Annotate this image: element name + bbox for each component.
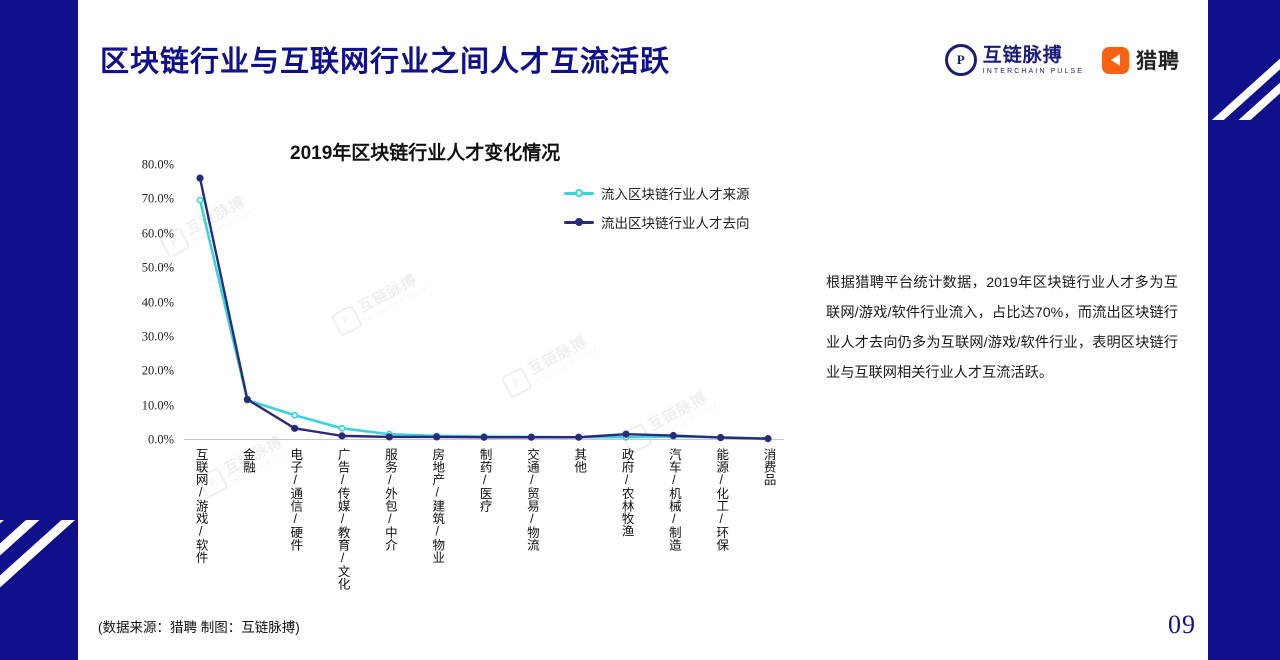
- liepin-play-icon: [1102, 47, 1129, 74]
- x-axis-tick-label: 房地产/建筑/物业: [430, 448, 443, 564]
- top-right-stripes: [1208, 0, 1280, 120]
- x-axis-tick-label: 消费品: [761, 448, 774, 486]
- x-axis-labels: 互联网/游戏/软件金融电子/通信/硬件广告/传媒/教育/文化服务/外包/中介房地…: [184, 448, 784, 598]
- bottom-left-stripes: [0, 520, 78, 660]
- plot-area: 流入区块链行业人才来源流出区块链行业人才去向: [184, 165, 784, 440]
- x-axis-tick-label: 其他: [572, 448, 585, 473]
- series-marker: [623, 431, 629, 437]
- legend-label: 流出区块链行业人才去向: [601, 212, 750, 232]
- source-note: (数据来源：猎聘 制图：互链脉搏): [98, 616, 300, 636]
- y-axis-tick-label: 70.0%: [142, 192, 174, 207]
- series-marker: [576, 434, 582, 440]
- series-marker: [718, 435, 724, 441]
- y-axis-tick-label: 20.0%: [142, 364, 174, 379]
- series-marker: [387, 434, 393, 440]
- liepin-logo: 猎聘: [1102, 45, 1180, 75]
- page-number: 09: [1168, 610, 1196, 640]
- series-marker: [481, 434, 487, 440]
- y-axis-tick-label: 40.0%: [142, 295, 174, 310]
- series-marker: [765, 436, 771, 442]
- slide: P 互链脉搏 INTERCHAIN PULSE P 互链脉搏 INTERCHAI…: [0, 0, 1280, 660]
- x-axis-tick-label: 能源/化工/环保: [714, 448, 727, 551]
- y-axis-tick-label: 0.0%: [148, 433, 174, 448]
- logo-group: P 互链脉搏 INTERCHAIN PULSE 猎聘: [945, 44, 1180, 76]
- x-axis-tick-label: 互联网/游戏/软件: [193, 448, 206, 564]
- x-axis-tick-label: 电子/通信/硬件: [288, 448, 301, 551]
- y-axis-tick-label: 60.0%: [142, 226, 174, 241]
- series-marker: [197, 175, 203, 181]
- x-axis-tick-label: 服务/外包/中介: [383, 448, 396, 551]
- x-axis-tick-label: 汽车/机械/制造: [667, 448, 680, 551]
- legend-item[interactable]: 流入区块链行业人才来源: [564, 183, 750, 203]
- legend-label: 流入区块链行业人才来源: [601, 183, 750, 203]
- ip-circle-icon: P: [945, 44, 977, 76]
- chart: 0.0%10.0%20.0%30.0%40.0%50.0%60.0%70.0%8…: [112, 165, 792, 455]
- interchain-logo-cn: 互链脉搏: [983, 46, 1084, 65]
- y-axis-tick-label: 50.0%: [142, 261, 174, 276]
- interchain-logo-en: INTERCHAIN PULSE: [983, 68, 1084, 75]
- legend-swatch-icon: [564, 215, 594, 229]
- legend-item[interactable]: 流出区块链行业人才去向: [564, 212, 750, 232]
- x-axis-tick-label: 广告/传媒/教育/文化: [335, 448, 348, 590]
- x-axis-tick-label: 交通/贸易/物流: [525, 448, 538, 551]
- interchain-logo: P 互链脉搏 INTERCHAIN PULSE: [945, 44, 1084, 76]
- series-marker: [434, 434, 440, 440]
- legend-swatch-icon: [564, 186, 594, 200]
- series-marker: [197, 197, 202, 202]
- x-axis-tick-label: 制药/医疗: [477, 448, 490, 512]
- chart-title: 2019年区块链行业人才变化情况: [290, 138, 560, 165]
- y-axis-tick-label: 80.0%: [142, 158, 174, 173]
- series-marker: [529, 434, 535, 440]
- y-axis-tick-label: 10.0%: [142, 398, 174, 413]
- series-marker: [339, 433, 345, 439]
- summary-note: 根据猎聘平台统计数据，2019年区块链行业人才多为互联网/游戏/软件行业流入，占…: [826, 268, 1178, 388]
- y-axis-labels: 0.0%10.0%20.0%30.0%40.0%50.0%60.0%70.0%8…: [112, 165, 174, 440]
- series-marker: [339, 426, 344, 431]
- chart-legend: 流入区块链行业人才来源流出区块链行业人才去向: [564, 183, 750, 241]
- y-axis-tick-label: 30.0%: [142, 329, 174, 344]
- series-marker: [245, 397, 251, 403]
- x-axis-tick-label: 金融: [241, 448, 254, 473]
- liepin-logo-cn: 猎聘: [1136, 45, 1180, 75]
- x-axis-tick-label: 政府/农林牧渔: [619, 448, 632, 537]
- series-marker: [671, 433, 677, 439]
- page-title: 区块链行业与互联网行业之间人才互流活跃: [100, 38, 670, 80]
- series-marker: [292, 426, 298, 432]
- series-marker: [292, 413, 297, 418]
